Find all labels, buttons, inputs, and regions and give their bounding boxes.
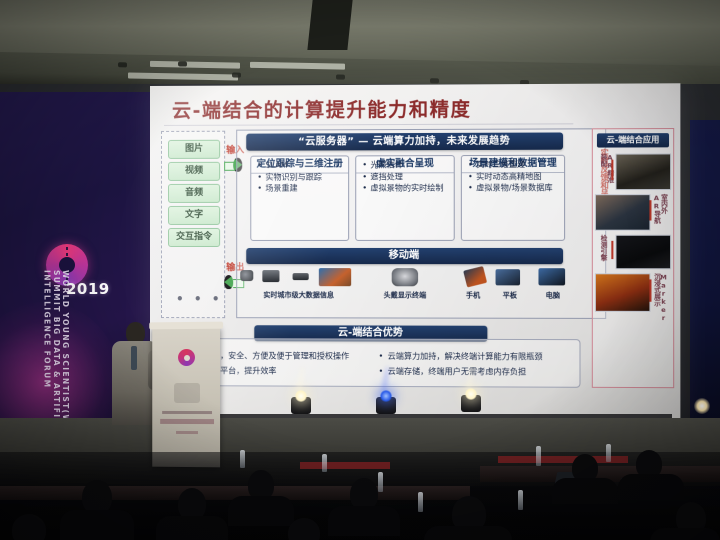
- podium-emblem: [174, 383, 200, 403]
- city-data-visual-icon: [319, 268, 351, 286]
- vr-headset-icon: [392, 268, 418, 286]
- surveillance-camera-icon: [262, 270, 279, 282]
- capability-item: 虚拟景物/场景数据库: [476, 183, 561, 194]
- cloud-server-band: “云服务器” — 云端算力加持，未来发展趋势: [246, 132, 563, 150]
- water-bottle: [378, 472, 383, 492]
- applications-band: 云-端结合应用: [597, 133, 669, 147]
- desktop-computer-icon: [538, 268, 565, 285]
- right-side-banner: [690, 120, 720, 420]
- audience-head: [288, 518, 320, 540]
- speaker-tie: [131, 346, 137, 370]
- input-sources-group: 图片 视频 音频 文字 交互指令 • • •: [161, 131, 225, 318]
- input-chip-video: 视频: [168, 162, 220, 181]
- ceiling-light-slot: [128, 72, 238, 80]
- ceiling-vent: [232, 72, 241, 77]
- audience-shoulders: [618, 474, 684, 500]
- mobile-terminal-band: 移动端: [246, 248, 563, 264]
- input-chip-image: 图片: [168, 140, 220, 159]
- advantage-box: 云端部署算法，安全、方便及便于管理和授权操作 云端多人共享平台，提升效率 云端算…: [161, 338, 581, 388]
- podium: [152, 327, 220, 468]
- device-label-computer: 电脑: [534, 290, 571, 300]
- capability-box-fusion: 虚实融合呈现 光照估计 遮挡处理 虚拟景物的实时绘制: [355, 155, 455, 241]
- capability-item: SLAM: [265, 160, 345, 171]
- applications-panel: 云-端结合应用 AR精准装配 室内外AR导航 检测引擎 Marker沉浸式展示: [592, 128, 674, 388]
- drone-icon: [293, 273, 309, 280]
- podium-text-line: [176, 431, 198, 434]
- device-label-phone: 手机: [455, 290, 492, 300]
- capability-item: 虚拟景物的实时绘制: [370, 183, 450, 194]
- capability-item: 遮挡处理: [370, 172, 450, 183]
- presentation-slide: 云-端结合的计算提升能力和精度 图片 视频 音频 文字 交互指令 • • • 输…: [150, 83, 680, 420]
- application-label-marker: Marker沉浸式展示: [653, 273, 667, 310]
- slide-title: 云-端结合的计算提升能力和精度: [172, 94, 471, 122]
- audience-shoulders: [60, 510, 134, 540]
- stage-light-center: [373, 388, 399, 414]
- input-chip-more: • • •: [176, 292, 222, 306]
- conference-photo-scene: 2019 大数据与人工智能论坛 世界青年科学家（温州）峰会 WORLD YOUN…: [0, 0, 720, 540]
- audience-shoulders: [328, 506, 400, 536]
- water-bottle: [518, 490, 523, 510]
- audience-foreground: [0, 452, 720, 540]
- device-label-hmd: 头戴显示终端: [371, 290, 438, 300]
- audience-shoulders: [156, 516, 228, 540]
- application-label-inspection: 检测引擎: [599, 235, 606, 267]
- capability-item: 场景重建: [265, 184, 345, 195]
- water-bottle: [322, 454, 327, 472]
- smartphone-icon: [463, 266, 487, 288]
- device-label-city-data: 实时城市级大数据信息: [238, 290, 359, 300]
- application-bar: [649, 200, 651, 220]
- application-bar: [611, 160, 613, 180]
- water-bottle: [606, 444, 611, 462]
- device-label-tablet: 平板: [491, 290, 528, 300]
- audience-head: [82, 480, 112, 514]
- capability-item: 实物识别与跟踪: [265, 172, 345, 183]
- capability-box-modeling: 场景建模和数据管理 实时三维重建 实时动态高精地图 虚拟景物/场景数据库: [461, 155, 565, 241]
- application-thumb-inspection: [615, 235, 671, 270]
- application-thumb-marker: [595, 273, 651, 312]
- banner-title-en: WORLD YOUNG SCIENTIST(WENZHOU) SUMMIT BI…: [42, 270, 70, 422]
- capability-item: 光照估计: [370, 160, 450, 171]
- stage-light-right: [458, 386, 484, 412]
- application-bar: [649, 279, 651, 301]
- ceiling-vent: [430, 78, 439, 83]
- side-spotlight: [694, 398, 710, 414]
- podium-text-line: [162, 411, 212, 414]
- water-bottle: [418, 492, 423, 512]
- application-label-navigation: 室内外AR导航: [653, 194, 667, 229]
- audience-shoulders: [650, 528, 720, 540]
- input-chip-text: 文字: [168, 206, 220, 225]
- application-thumb-navigation: [595, 194, 651, 231]
- input-chip-interaction: 交互指令: [168, 228, 220, 247]
- ceiling-light-slot: [250, 62, 345, 70]
- application-thumb-assembly: [615, 153, 671, 190]
- title-divider: [164, 123, 573, 126]
- advantage-column-right: 云端算力加持，解决终端计算能力有限瓶颈 云端存储，终端用户无需考虑内存负担: [378, 350, 577, 381]
- application-bar: [611, 241, 613, 259]
- ceiling-duct: [307, 0, 352, 50]
- ceiling-vent: [178, 61, 187, 66]
- ceiling-vent: [118, 62, 127, 67]
- audience-shoulders: [228, 496, 294, 526]
- audience-head: [12, 514, 46, 540]
- summit-flower-logo-icon: [178, 349, 195, 366]
- banner-year: 2019: [66, 280, 110, 298]
- advantage-item: 云端存储，终端用户无需考虑内存负担: [388, 365, 577, 379]
- camera-dome-icon: [240, 270, 253, 281]
- projection-screen: 云-端结合的计算提升能力和精度 图片 视频 音频 文字 交互指令 • • • 输…: [150, 83, 680, 420]
- water-bottle: [536, 446, 541, 466]
- water-bottle: [240, 450, 245, 468]
- advantage-item: 云端算力加持，解决终端计算能力有限瓶颈: [388, 350, 577, 364]
- podium-text-line: [160, 419, 214, 424]
- ceiling: [0, 0, 720, 88]
- capability-item: 实时动态高精地图: [476, 171, 561, 182]
- input-chip-audio: 音频: [168, 184, 220, 203]
- tablet-icon: [496, 269, 521, 285]
- stage-light-left: [288, 388, 314, 414]
- capability-item: 实时三维重建: [476, 160, 561, 171]
- audience-shoulders: [552, 478, 618, 504]
- ceiling-vent: [336, 74, 345, 79]
- audience-shoulders: [424, 526, 512, 540]
- podium-top: [149, 322, 223, 330]
- device-row: 实时城市级大数据信息 头戴显示终端 手机 平板 电脑: [240, 268, 569, 313]
- ceiling-light-slot: [150, 61, 240, 69]
- table-cloth: [300, 462, 390, 469]
- capability-box-tracking: 定位跟踪与三维注册 SLAM 实物识别与跟踪 场景重建: [250, 155, 349, 241]
